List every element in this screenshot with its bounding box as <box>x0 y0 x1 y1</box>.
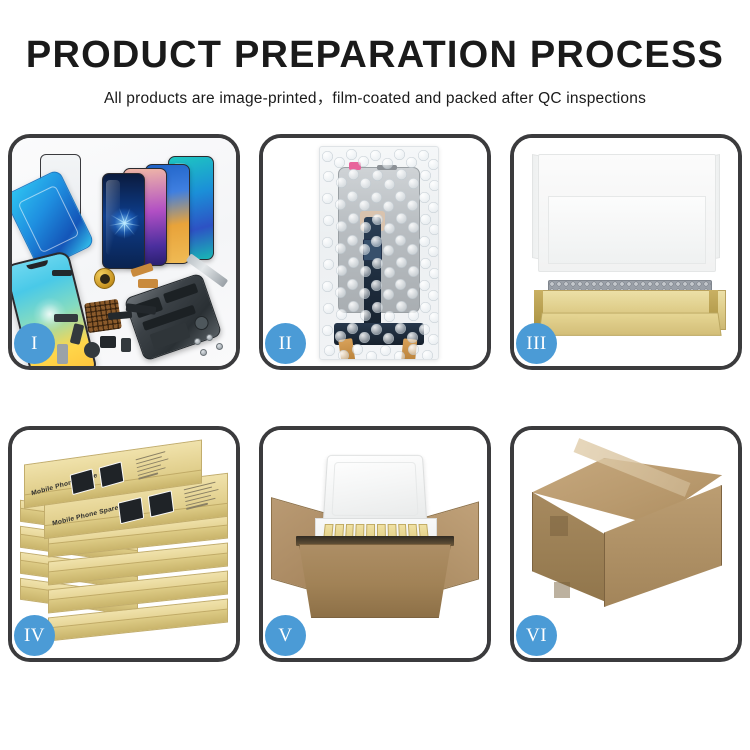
step-panel-2: II <box>259 134 491 370</box>
step-panel-3: III <box>510 134 742 370</box>
box-screen-image-4 <box>148 490 175 517</box>
bubble-texture <box>320 147 438 359</box>
part-connector-1 <box>52 270 72 276</box>
step-panel-1: I <box>8 134 240 370</box>
step-panel-6: VI <box>510 426 742 662</box>
camera-module-icon <box>94 268 115 289</box>
bubble-wrap-bag-icon <box>319 146 439 360</box>
screws-icon <box>192 334 226 360</box>
infographic-page: PRODUCT PREPARATION PROCESS All products… <box>0 0 750 750</box>
foam-cooler-lid-icon <box>323 455 428 524</box>
part-flex-cable-2 <box>138 279 158 288</box>
header: PRODUCT PREPARATION PROCESS All products… <box>0 0 750 108</box>
box-screen-image-1 <box>70 468 96 495</box>
step-badge-6: VI <box>516 615 557 656</box>
step-panel-5: V <box>259 426 491 662</box>
box-screen-image-2 <box>99 461 125 488</box>
page-subtitle: All products are image-printed，film-coat… <box>0 86 750 108</box>
part-vibrator-icon <box>84 342 100 358</box>
part-connector-2 <box>100 336 116 348</box>
shipping-carton-icon <box>299 544 451 618</box>
box-spec-lines-2 <box>184 481 223 513</box>
part-sim-tray-icon <box>57 344 68 364</box>
step-panel-4: Mobile Phone Spare Parts <box>8 426 240 662</box>
box-screen-image-3 <box>118 497 145 524</box>
step-badge-2: II <box>265 323 306 364</box>
part-button-1 <box>121 338 131 352</box>
step-badge-4: IV <box>14 615 55 656</box>
step-badge-1: I <box>14 323 55 364</box>
part-bracket-1 <box>54 314 78 322</box>
process-steps-grid: I <box>8 134 742 662</box>
stacked-boxes-icon: Mobile Phone Spare Parts <box>18 450 236 650</box>
box-spec-lines-1 <box>136 449 175 482</box>
step-badge-3: III <box>516 323 557 364</box>
page-title: PRODUCT PREPARATION PROCESS <box>0 36 750 76</box>
step-badge-5: V <box>265 615 306 656</box>
